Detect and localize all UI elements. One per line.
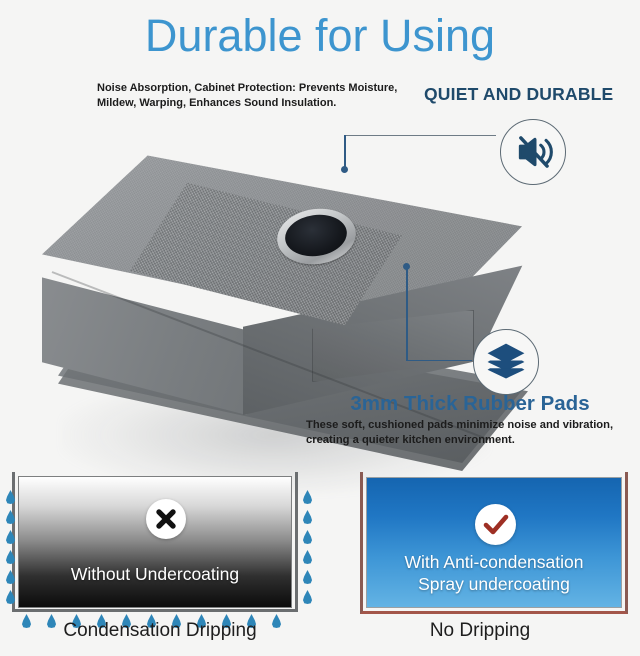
water-droplet: [303, 570, 312, 584]
feature-pads-title: 3mm Thick Rubber Pads: [300, 392, 640, 416]
left-panel-swatch: Without Undercoating: [18, 476, 292, 608]
right-swatch-caption: With Anti-condensation Spray undercoatin…: [367, 551, 621, 595]
lead-note-text: Noise Absorption, Cabinet Protection: Pr…: [97, 81, 407, 110]
water-droplet: [303, 490, 312, 504]
right-swatch-caption-line1: With Anti-condensation: [367, 551, 621, 573]
right-panel-caption: No Dripping: [320, 620, 640, 642]
callout-dot-pads: [403, 263, 410, 270]
feature-quiet-label: QUIET AND DURABLE: [424, 84, 640, 105]
water-droplet: [303, 550, 312, 564]
layers-stack-icon: [473, 329, 539, 395]
feature-pads-description: These soft, cushioned pads minimize nois…: [306, 418, 636, 448]
left-swatch-caption: Without Undercoating: [19, 563, 291, 585]
callout-line-quiet-horizontal: [344, 135, 496, 136]
x-mark-icon: [146, 499, 186, 539]
left-panel-caption: Condensation Dripping: [0, 620, 320, 642]
right-panel-swatch: With Anti-condensation Spray undercoatin…: [366, 477, 622, 608]
speaker-mute-icon: [500, 119, 566, 185]
callout-dot-quiet: [341, 166, 348, 173]
infographic-canvas: Durable for Using Noise Absorption, Cabi…: [0, 0, 640, 656]
callout-line-pads-horizontal: [406, 360, 472, 361]
water-droplet: [303, 530, 312, 544]
right-swatch-caption-line2: Spray undercoating: [367, 573, 621, 595]
callout-line-pads-vertical: [406, 266, 408, 361]
comparison-panel-without-undercoating: Without Undercoating: [0, 462, 320, 656]
page-title: Durable for Using: [0, 8, 640, 64]
check-mark-icon: [475, 504, 516, 545]
callout-line-quiet-vertical: [344, 135, 346, 170]
comparison-panel-with-undercoating: With Anti-condensation Spray undercoatin…: [320, 462, 640, 656]
water-droplet: [303, 590, 312, 604]
comparison-section: Without Undercoating: [0, 462, 640, 656]
water-droplet: [303, 510, 312, 524]
